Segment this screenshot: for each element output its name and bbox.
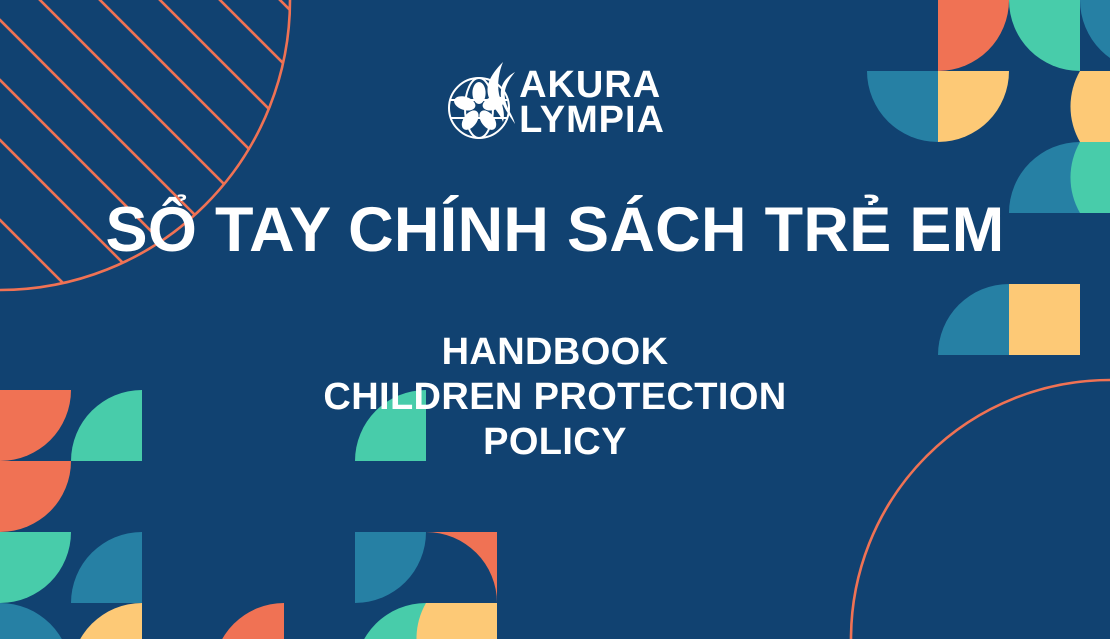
subtitle-line-1: HANDBOOK bbox=[323, 330, 786, 375]
tile-yellow-tr-8 bbox=[999, 284, 1080, 355]
page-subtitle: HANDBOOK CHILDREN PROTECTION POLICY bbox=[323, 330, 786, 464]
sakura-olympia-globe-flame-logo bbox=[445, 60, 521, 146]
brand-line-2: LYMPIA bbox=[517, 103, 665, 138]
tile-yellow-bl-11 bbox=[416, 603, 497, 639]
tile-mint-tr-7 bbox=[1070, 142, 1110, 213]
subtitle-line-2: CHILDREN PROTECTION bbox=[323, 375, 786, 420]
cover-page: AKURA LYMPIA SỔ TAY CHÍNH SÁCH TRẺ EM HA… bbox=[0, 0, 1110, 639]
brand-logo[interactable]: AKURA LYMPIA bbox=[445, 60, 665, 146]
subtitle-line-3: POLICY bbox=[323, 420, 786, 465]
brand-line-1: AKURA bbox=[517, 68, 665, 103]
tile-yellow-tr-5 bbox=[1070, 71, 1110, 142]
page-title: SỔ TAY CHÍNH SÁCH TRẺ EM bbox=[105, 194, 1004, 266]
brand-wordmark: AKURA LYMPIA bbox=[517, 68, 665, 138]
